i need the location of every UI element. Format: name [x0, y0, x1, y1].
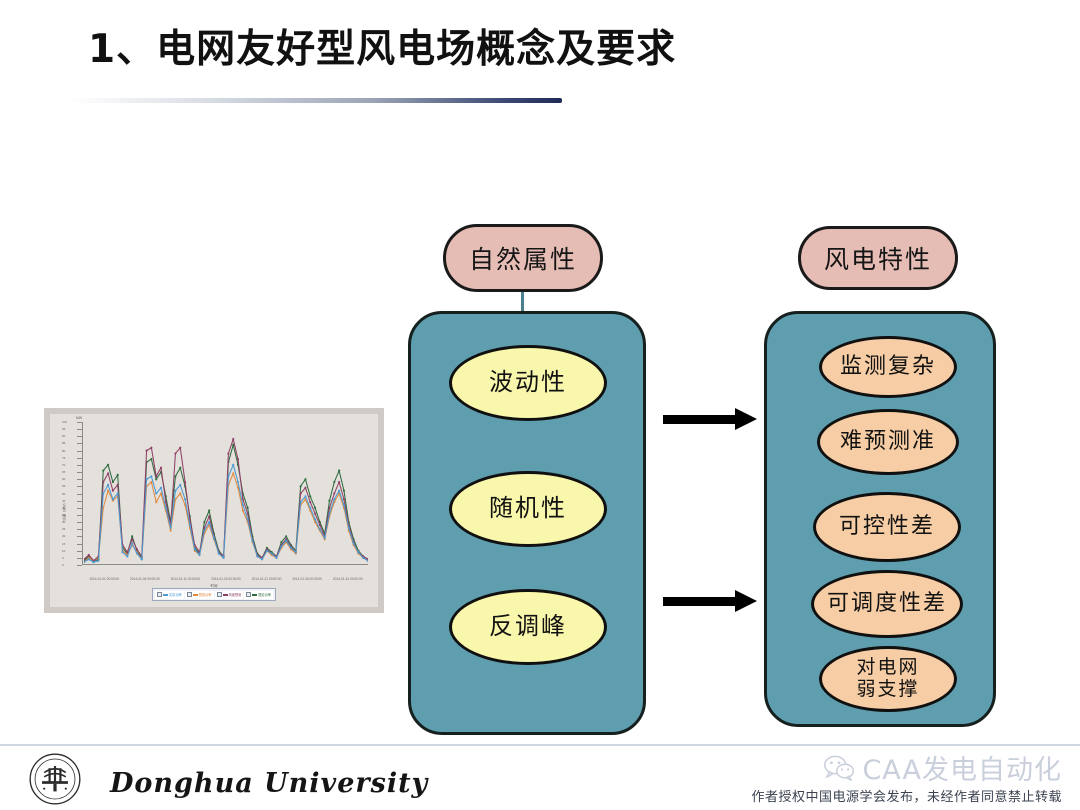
legend-label: 风速预测 [229, 592, 242, 597]
chart-plot-area [84, 422, 368, 565]
chart-data-point [184, 481, 186, 483]
chart-data-point [208, 515, 210, 517]
footer-divider [0, 744, 1080, 746]
chart-data-point [280, 545, 282, 547]
chart-y-tick [77, 501, 82, 502]
chart-x-tick-label: 2014-01-06 00:00:00 [130, 577, 160, 582]
donghua-university-logo-icon [28, 752, 82, 806]
node-fluctuation[interactable]: 波动性 [449, 345, 607, 421]
chart-y-tick-label: 0 [62, 563, 64, 567]
wind-power-chart-figure: MW 功率（MW） 时间 051015202530354045505560657… [44, 408, 384, 613]
chart-data-point [189, 524, 191, 526]
chart-y-tick [77, 451, 82, 452]
chart-y-tick [77, 494, 82, 495]
chart-data-point [251, 540, 253, 542]
chart-data-point [131, 538, 133, 540]
chart-data-point [232, 438, 234, 440]
chart-data-point [179, 484, 181, 486]
node-weak-grid-support[interactable]: 对电网 弱支撑 [819, 646, 957, 712]
chart-data-point [362, 557, 364, 559]
chart-y-tick-label: 75 [62, 456, 65, 460]
chart-data-point [338, 481, 340, 483]
copyright-notice: 作者授权中国电源学会发布，未经作者同意禁止转载 [751, 786, 1062, 805]
chart-data-point [304, 478, 306, 480]
chart-data-point [328, 512, 330, 514]
chart-data-point [357, 551, 359, 553]
chart-y-tick [77, 486, 82, 487]
header-natural-attributes[interactable]: 自然属性 [443, 224, 603, 292]
chart-series-line [84, 465, 368, 562]
chart-data-point [328, 500, 330, 502]
chart-data-point [324, 537, 326, 539]
chart-y-tick-label: 80 [62, 449, 65, 453]
chart-y-tick-label: 15 [62, 542, 65, 546]
chart-data-point [304, 487, 306, 489]
node-hard-to-predict[interactable]: 难预测准 [817, 409, 959, 475]
chart-y-axis-line [82, 422, 83, 565]
node-poor-dispatchability[interactable]: 可调度性差 [811, 570, 963, 638]
chart-data-point [213, 537, 215, 539]
chart-data-point [146, 478, 148, 480]
chart-y-tick [77, 443, 82, 444]
chart-canvas: MW 功率（MW） 时间 051015202530354045505560657… [50, 414, 378, 607]
chart-y-tick [77, 536, 82, 537]
chart-data-point [237, 458, 239, 460]
chart-data-point [117, 484, 119, 486]
chart-data-point [242, 504, 244, 506]
chart-data-point [247, 507, 249, 509]
chart-data-point [266, 550, 268, 552]
chart-x-tick-label: 2014-01-26 00:00:00 [292, 577, 322, 582]
chart-data-point [309, 501, 311, 503]
legend-checkbox[interactable] [246, 592, 251, 597]
university-name: Donghua University [110, 768, 428, 799]
chart-y-tick [77, 522, 82, 523]
chart-data-point [155, 492, 157, 494]
chart-data-point [170, 530, 172, 532]
chart-yunit-label: MW [76, 416, 82, 420]
chart-data-point [170, 527, 172, 529]
chart-y-tick-label: 55 [62, 484, 65, 488]
page-title: 1、电网友好型风电场概念及要求 [88, 18, 676, 74]
chart-data-point [194, 548, 196, 550]
chart-data-point [88, 554, 90, 556]
chart-y-tick [77, 422, 82, 423]
watermark-text: CAA发电自动化 [862, 748, 1062, 787]
chart-data-point [131, 535, 133, 537]
chart-y-tick-label: 90 [62, 434, 65, 438]
header-wind-power-characteristics[interactable]: 风电特性 [798, 226, 958, 290]
chart-data-point [208, 510, 210, 512]
chart-data-point [126, 555, 128, 557]
chart-data-point [300, 501, 302, 503]
chart-data-point [146, 449, 148, 451]
chart-data-point [150, 458, 152, 460]
chart-y-tick [77, 465, 82, 466]
chart-data-point [165, 507, 167, 509]
chart-x-tick-label: 2014-01-21 00:00:00 [252, 577, 282, 582]
chart-y-tick-label: 70 [62, 463, 65, 467]
node-randomness[interactable]: 随机性 [449, 471, 607, 547]
chart-data-point [107, 472, 109, 474]
chart-data-point [155, 478, 157, 480]
chart-data-point [174, 475, 176, 477]
chart-y-tick [77, 544, 82, 545]
chart-data-point [179, 467, 181, 469]
node-monitoring-complex[interactable]: 监测复杂 [819, 336, 957, 398]
chart-data-point [97, 560, 99, 562]
chart-data-point [232, 464, 234, 466]
chart-data-point [295, 551, 297, 553]
chart-data-point [290, 547, 292, 549]
chart-data-point [223, 557, 225, 559]
chart-y-tick-label: 65 [62, 470, 65, 474]
chart-y-tick-label: 20 [62, 534, 65, 538]
chart-data-point [333, 481, 335, 483]
chart-data-point [343, 490, 345, 492]
chart-data-point [237, 481, 239, 483]
chart-data-point [304, 495, 306, 497]
chart-data-point [160, 487, 162, 489]
chart-y-tick-label: 85 [62, 441, 65, 445]
chart-y-tick-label: 50 [62, 492, 65, 496]
chart-data-point [242, 510, 244, 512]
chart-ylabel: 功率（MW） [61, 501, 66, 521]
chart-data-point [247, 512, 249, 514]
chart-data-point [338, 490, 340, 492]
legend-checkbox[interactable] [187, 592, 192, 597]
chart-data-point [174, 490, 176, 492]
chart-data-point [179, 447, 181, 449]
chart-data-point [107, 490, 109, 492]
chart-y-tick [77, 565, 82, 566]
chart-y-tick [77, 551, 82, 552]
chart-y-tick [77, 479, 82, 480]
chart-data-point [102, 481, 104, 483]
chart-data-point [155, 501, 157, 503]
chart-data-point [117, 474, 119, 476]
chart-data-point [271, 552, 273, 554]
arrow-upper-right [663, 412, 757, 426]
wechat-icon [824, 755, 854, 781]
chart-data-point [131, 542, 133, 544]
chart-y-tick [77, 515, 82, 516]
chart-data-point [107, 464, 109, 466]
chart-data-point [121, 551, 123, 553]
chart-y-tick [77, 508, 82, 509]
chart-data-point [174, 452, 176, 454]
chart-data-point [150, 475, 152, 477]
chart-data-point [117, 492, 119, 494]
chart-data-point [353, 542, 355, 544]
chart-data-point [150, 447, 152, 449]
chart-data-point [247, 518, 249, 520]
node-anti-peak-regulation[interactable]: 反调峰 [449, 589, 607, 665]
chart-data-point [314, 518, 316, 520]
chart-data-point [184, 498, 186, 500]
chart-data-point [256, 555, 258, 557]
chart-data-point [155, 475, 157, 477]
chart-data-point [88, 558, 90, 560]
chart-x-tick-label: 2014-01-16 00:00:00 [211, 577, 241, 582]
chart-data-point [232, 472, 234, 474]
arrow-head [735, 408, 757, 430]
chart-data-point [333, 498, 335, 500]
chart-legend-item[interactable]: 理论功率 [244, 591, 273, 599]
legend-color-swatch [223, 594, 228, 596]
arrow-shaft [663, 597, 737, 606]
caa-watermark: CAA发电自动化 [824, 748, 1062, 787]
chart-x-tick-label: 2014-01-11 00:00:00 [171, 577, 200, 582]
chart-y-tick-label: 30 [62, 520, 65, 524]
chart-data-point [309, 507, 311, 509]
chart-y-tick-label: 45 [62, 499, 65, 503]
chart-y-tick-label: 100 [62, 420, 67, 424]
arrow-shaft [663, 415, 737, 424]
chart-y-tick [77, 436, 82, 437]
chart-x-tick-label: 2014-01-01 00:00:00 [89, 577, 119, 582]
legend-color-swatch [163, 594, 168, 596]
chart-data-point [227, 475, 229, 477]
title-underline-rule [70, 98, 562, 103]
chart-data-point [328, 507, 330, 509]
chart-series-line [84, 439, 368, 561]
legend-color-swatch [193, 594, 198, 596]
node-weak-grid-support-line2: 弱支撑 [856, 679, 919, 701]
chart-data-point [136, 552, 138, 554]
chart-data-point [126, 551, 128, 553]
legend-label: 实际功率 [169, 592, 182, 597]
chart-data-point [112, 481, 114, 483]
node-weak-grid-support-line1: 对电网 [856, 657, 919, 679]
legend-label: 理论功率 [258, 592, 271, 597]
chart-data-point [285, 535, 287, 537]
chart-data-point [280, 541, 282, 543]
panel-natural-attributes: 波动性 随机性 反调峰 [408, 311, 646, 735]
chart-data-point [343, 498, 345, 500]
chart-data-point [314, 507, 316, 509]
legend-checkbox[interactable] [157, 592, 162, 597]
arrow-lower-right [663, 594, 757, 608]
chart-x-tick-label: 2014-01-31 00:00:00 [333, 577, 363, 582]
node-poor-controllability[interactable]: 可控性差 [813, 492, 961, 562]
chart-data-point [338, 469, 340, 471]
chart-legend-item[interactable]: 风速预测 [215, 591, 244, 599]
chart-y-tick-label: 5 [62, 556, 64, 560]
chart-data-point [136, 548, 138, 550]
chart-data-point [309, 495, 311, 497]
chart-data-point [203, 530, 205, 532]
chart-data-point [93, 561, 95, 563]
arrow-head [735, 590, 757, 612]
legend-color-swatch [252, 594, 257, 596]
chart-data-point [208, 521, 210, 523]
chart-y-tick-label: 40 [62, 506, 65, 510]
chart-data-point [300, 485, 302, 487]
chart-legend[interactable]: 实际功率预测功率风速预测理论功率 [152, 588, 276, 601]
chart-data-point [285, 540, 287, 542]
chart-data-point [343, 504, 345, 506]
legend-label: 预测功率 [199, 592, 212, 597]
chart-data-point [160, 467, 162, 469]
chart-data-point [203, 521, 205, 523]
chart-data-point [276, 557, 278, 559]
chart-data-point [218, 552, 220, 554]
chart-y-tick [77, 458, 82, 459]
chart-data-point [348, 527, 350, 529]
chart-data-point [107, 484, 109, 486]
chart-y-tick [77, 429, 82, 430]
chart-legend-item[interactable]: 预测功率 [185, 591, 214, 599]
chart-data-point [102, 492, 104, 494]
chart-y-tick-label: 35 [62, 513, 65, 517]
chart-data-point [333, 492, 335, 494]
chart-series-svg [84, 422, 368, 565]
chart-data-point [150, 481, 152, 483]
chart-data-point [179, 492, 181, 494]
chart-y-tick [77, 472, 82, 473]
legend-checkbox[interactable] [217, 592, 222, 597]
chart-y-tick-label: 25 [62, 527, 65, 531]
panel-wind-power-characteristics: 监测复杂 难预测准 可控性差 可调度性差 对电网 弱支撑 [764, 311, 996, 727]
chart-data-point [112, 498, 114, 500]
chart-y-tick-label: 10 [62, 549, 65, 553]
chart-y-tick-label: 95 [62, 427, 65, 431]
chart-data-point [227, 452, 229, 454]
chart-data-point [300, 492, 302, 494]
chart-legend-item[interactable]: 实际功率 [155, 591, 184, 599]
chart-data-point [261, 558, 263, 560]
chart-y-tick-label: 60 [62, 477, 65, 481]
chart-y-tick [77, 529, 82, 530]
chart-y-tick [77, 558, 82, 559]
chart-data-point [141, 558, 143, 560]
chart-data-point [314, 512, 316, 514]
chart-data-point [319, 524, 321, 526]
chart-data-point [319, 528, 321, 530]
chart-data-point [102, 469, 104, 471]
chart-data-point [198, 554, 200, 556]
chart-data-point [112, 490, 114, 492]
